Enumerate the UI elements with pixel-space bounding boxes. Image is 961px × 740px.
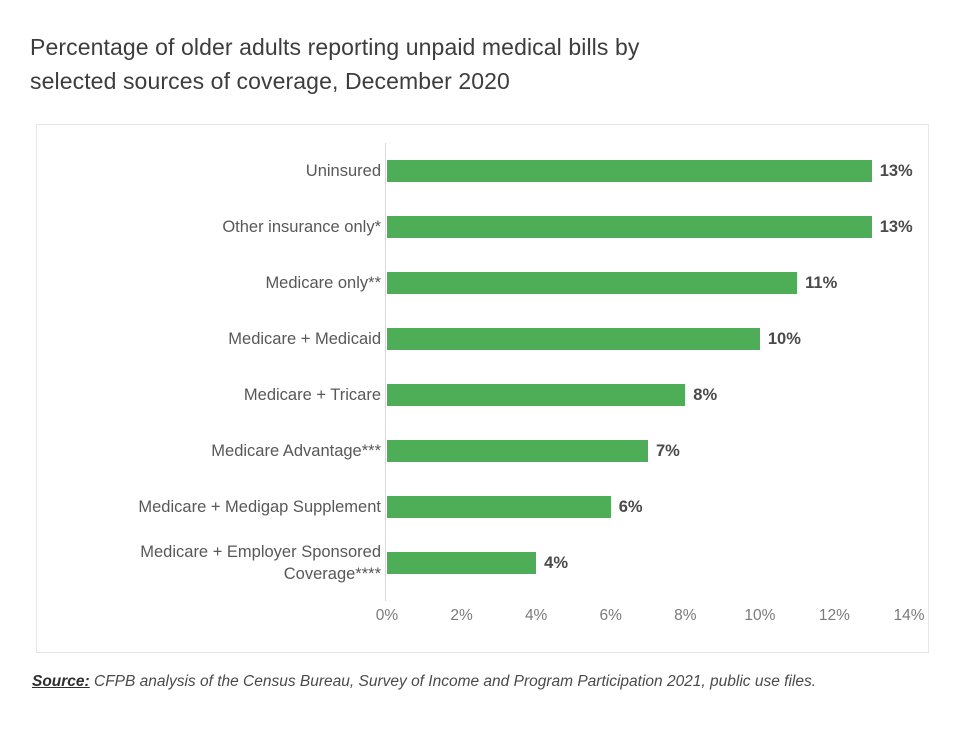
bar-value-label: 11% bbox=[805, 274, 837, 293]
bar-track: 13% bbox=[387, 199, 930, 255]
category-label: Medicare Advantage*** bbox=[211, 440, 381, 462]
source-text: CFPB analysis of the Census Bureau, Surv… bbox=[90, 673, 816, 690]
bar-value-label: 4% bbox=[544, 554, 568, 573]
category-label-wrap: Medicare only** bbox=[41, 255, 385, 311]
category-label-wrap: Other insurance only* bbox=[41, 199, 385, 255]
bar-row: Medicare + Employer Sponsored Coverage**… bbox=[37, 535, 928, 591]
category-label-wrap: Medicare + Medicaid bbox=[41, 311, 385, 367]
category-label: Other insurance only* bbox=[222, 216, 381, 238]
bar bbox=[387, 272, 797, 294]
x-axis-tick-label: 12% bbox=[819, 607, 850, 625]
bar-value-label: 13% bbox=[880, 162, 913, 181]
category-label: Medicare + Employer Sponsored Coverage**… bbox=[140, 541, 381, 585]
category-label: Medicare + Medigap Supplement bbox=[138, 496, 381, 518]
bar-row: Uninsured13% bbox=[37, 143, 928, 199]
x-axis-tick-label: 10% bbox=[744, 607, 775, 625]
bar bbox=[387, 328, 760, 350]
bar bbox=[387, 216, 872, 238]
x-axis-tick-label: 0% bbox=[376, 607, 398, 625]
category-label: Medicare + Tricare bbox=[244, 384, 381, 406]
x-axis-tick-label: 14% bbox=[893, 607, 924, 625]
bar-track: 7% bbox=[387, 423, 930, 479]
category-label-wrap: Medicare + Medigap Supplement bbox=[41, 479, 385, 535]
category-label-wrap: Medicare + Tricare bbox=[41, 367, 385, 423]
category-label-wrap: Medicare Advantage*** bbox=[41, 423, 385, 479]
category-label-wrap: Medicare + Employer Sponsored Coverage**… bbox=[41, 535, 385, 591]
x-axis-tick-label: 4% bbox=[525, 607, 547, 625]
x-axis-tick-label: 8% bbox=[674, 607, 696, 625]
bar-track: 13% bbox=[387, 143, 930, 199]
bar-track: 4% bbox=[387, 535, 930, 591]
bar-row: Medicare Advantage***7% bbox=[37, 423, 928, 479]
bar bbox=[387, 440, 648, 462]
bar-track: 8% bbox=[387, 367, 930, 423]
bar bbox=[387, 384, 685, 406]
bar-row: Medicare + Tricare8% bbox=[37, 367, 928, 423]
bar bbox=[387, 496, 611, 518]
category-label: Medicare only** bbox=[265, 272, 381, 294]
source-note: Source: CFPB analysis of the Census Bure… bbox=[32, 668, 932, 695]
category-label: Medicare + Medicaid bbox=[228, 328, 381, 350]
x-axis: 0%2%4%6%8%10%12%14% bbox=[385, 601, 928, 631]
x-axis-tick-label: 6% bbox=[600, 607, 622, 625]
plot-area: Uninsured13%Other insurance only*13%Medi… bbox=[36, 124, 929, 653]
bar-value-label: 6% bbox=[619, 498, 643, 517]
bar-row: Other insurance only*13% bbox=[37, 199, 928, 255]
page-title: Percentage of older adults reporting unp… bbox=[30, 30, 910, 98]
category-label-wrap: Uninsured bbox=[41, 143, 385, 199]
bar bbox=[387, 552, 536, 574]
category-label: Uninsured bbox=[306, 160, 381, 182]
bar-value-label: 7% bbox=[656, 442, 680, 461]
chart-page: Percentage of older adults reporting unp… bbox=[0, 0, 961, 740]
bar-track: 10% bbox=[387, 311, 930, 367]
plot-inner: Uninsured13%Other insurance only*13%Medi… bbox=[37, 125, 928, 652]
bar-track: 6% bbox=[387, 479, 930, 535]
source-label: Source: bbox=[32, 673, 90, 690]
bar-row: Medicare only**11% bbox=[37, 255, 928, 311]
x-axis-tick-label: 2% bbox=[450, 607, 472, 625]
bar-value-label: 13% bbox=[880, 218, 913, 237]
bar-value-label: 8% bbox=[693, 386, 717, 405]
bar-track: 11% bbox=[387, 255, 930, 311]
bar bbox=[387, 160, 872, 182]
bar-row: Medicare + Medigap Supplement6% bbox=[37, 479, 928, 535]
bar-value-label: 10% bbox=[768, 330, 801, 349]
bar-row: Medicare + Medicaid10% bbox=[37, 311, 928, 367]
